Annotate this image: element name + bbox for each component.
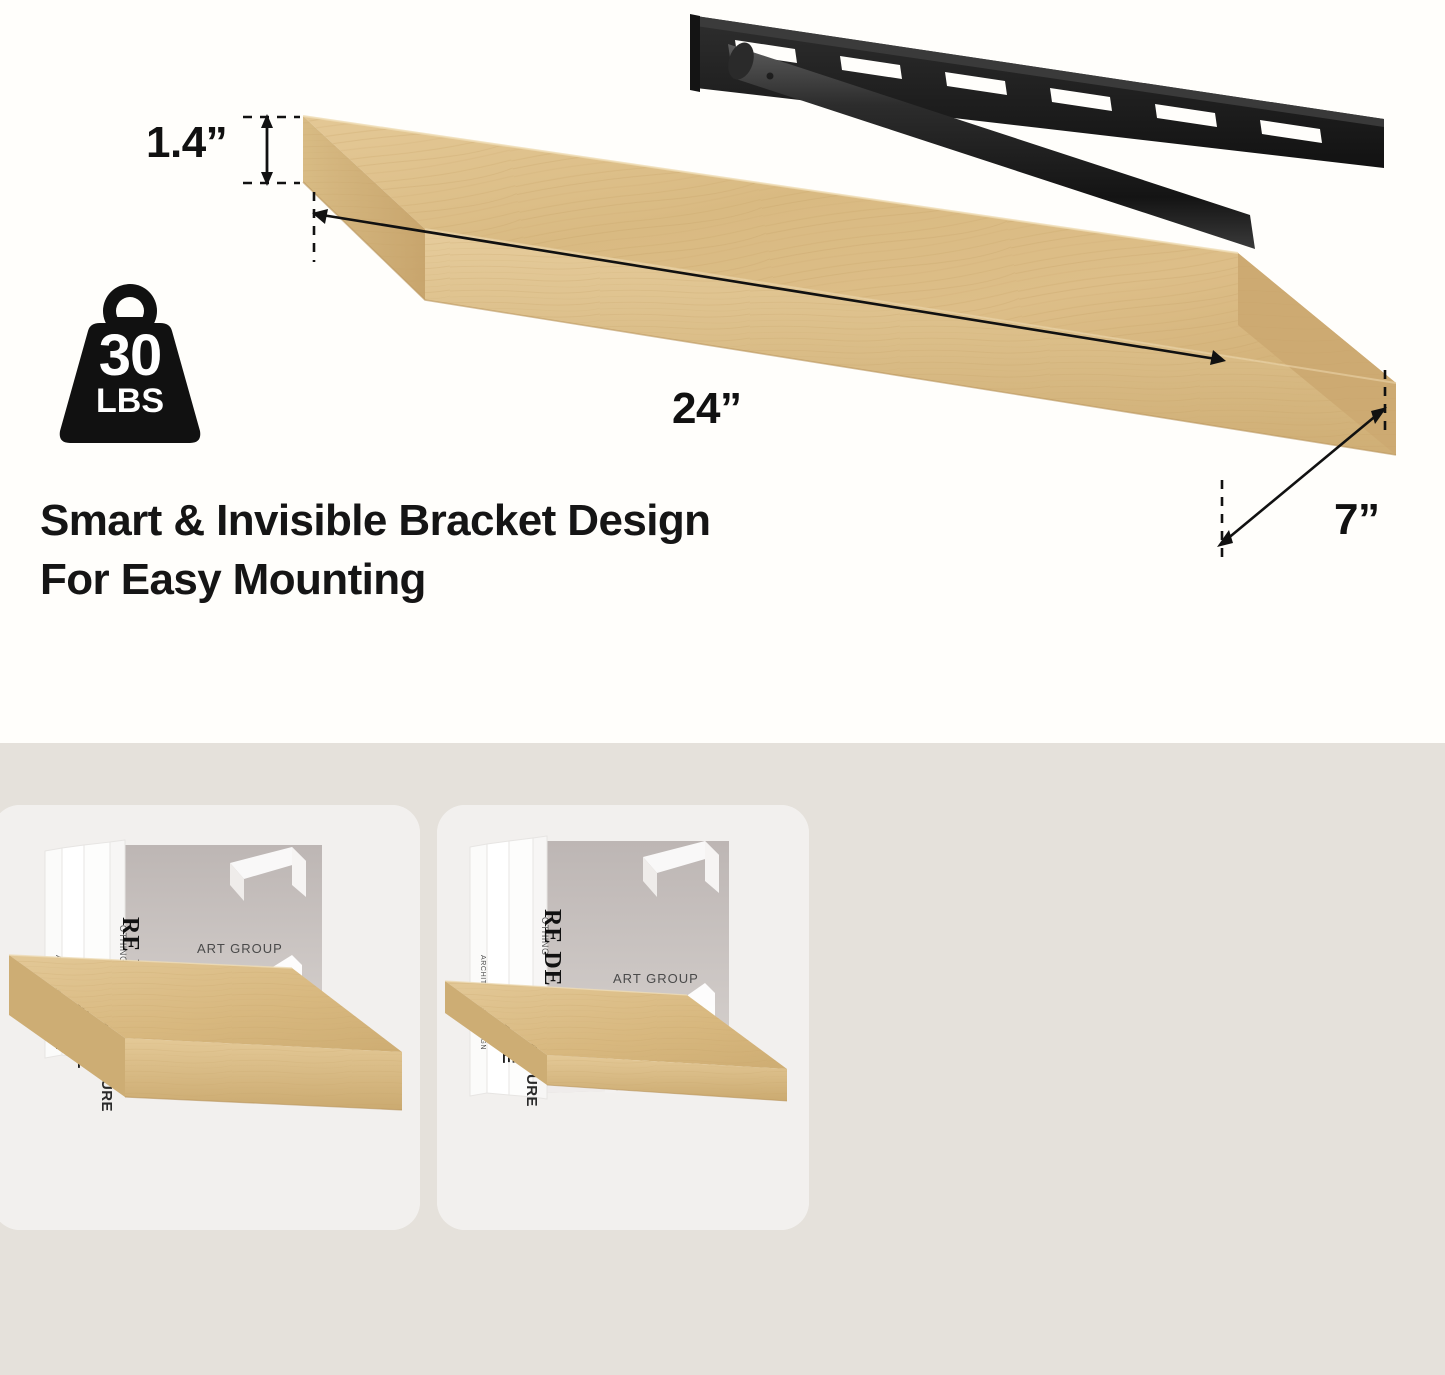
product-infographic: 1.4” 24” 7” 30 LBS Smart & Invisible Bra… <box>0 0 1445 1375</box>
dimension-label-length: 24” <box>672 384 741 434</box>
weight-unit: LBS <box>50 384 210 418</box>
dimension-label-thickness: 1.4” <box>146 118 227 168</box>
headline-line-1: Smart & Invisible Bracket Design <box>40 496 710 545</box>
bottom-section: ART GROUP ARCHITECTURE DESIGN ARCHITE RC… <box>0 743 1445 1375</box>
headline-line-2: For Easy Mounting <box>40 551 860 610</box>
top-section: 1.4” 24” 7” 30 LBS Smart & Invisible Bra… <box>0 0 1445 743</box>
poster-text: ART GROUP <box>197 941 283 956</box>
headline: Smart & Invisible Bracket Design For Eas… <box>40 492 860 609</box>
dimension-label-depth: 7” <box>1334 495 1379 545</box>
shelf-hero-illustration <box>0 0 1445 743</box>
ours-shelf-scene: ART GROUP ARCHITECTURE DESIGN ARCHITE RC… <box>0 805 420 1230</box>
weight-value: 30 <box>50 327 210 385</box>
shelf-board-top <box>303 116 1396 455</box>
comparison-card-ours: ART GROUP ARCHITECTURE DESIGN ARCHITE RC… <box>0 805 420 1230</box>
weight-capacity-badge: 30 LBS <box>50 283 210 448</box>
others-shelf-scene: ART GROUP ARCHITECTURE DESIGN ARCHITE RC… <box>437 805 809 1230</box>
poster-text: ART GROUP <box>613 971 699 986</box>
comparison-card-others: ART GROUP ARCHITECTURE DESIGN ARCHITE RC… <box>437 805 809 1230</box>
